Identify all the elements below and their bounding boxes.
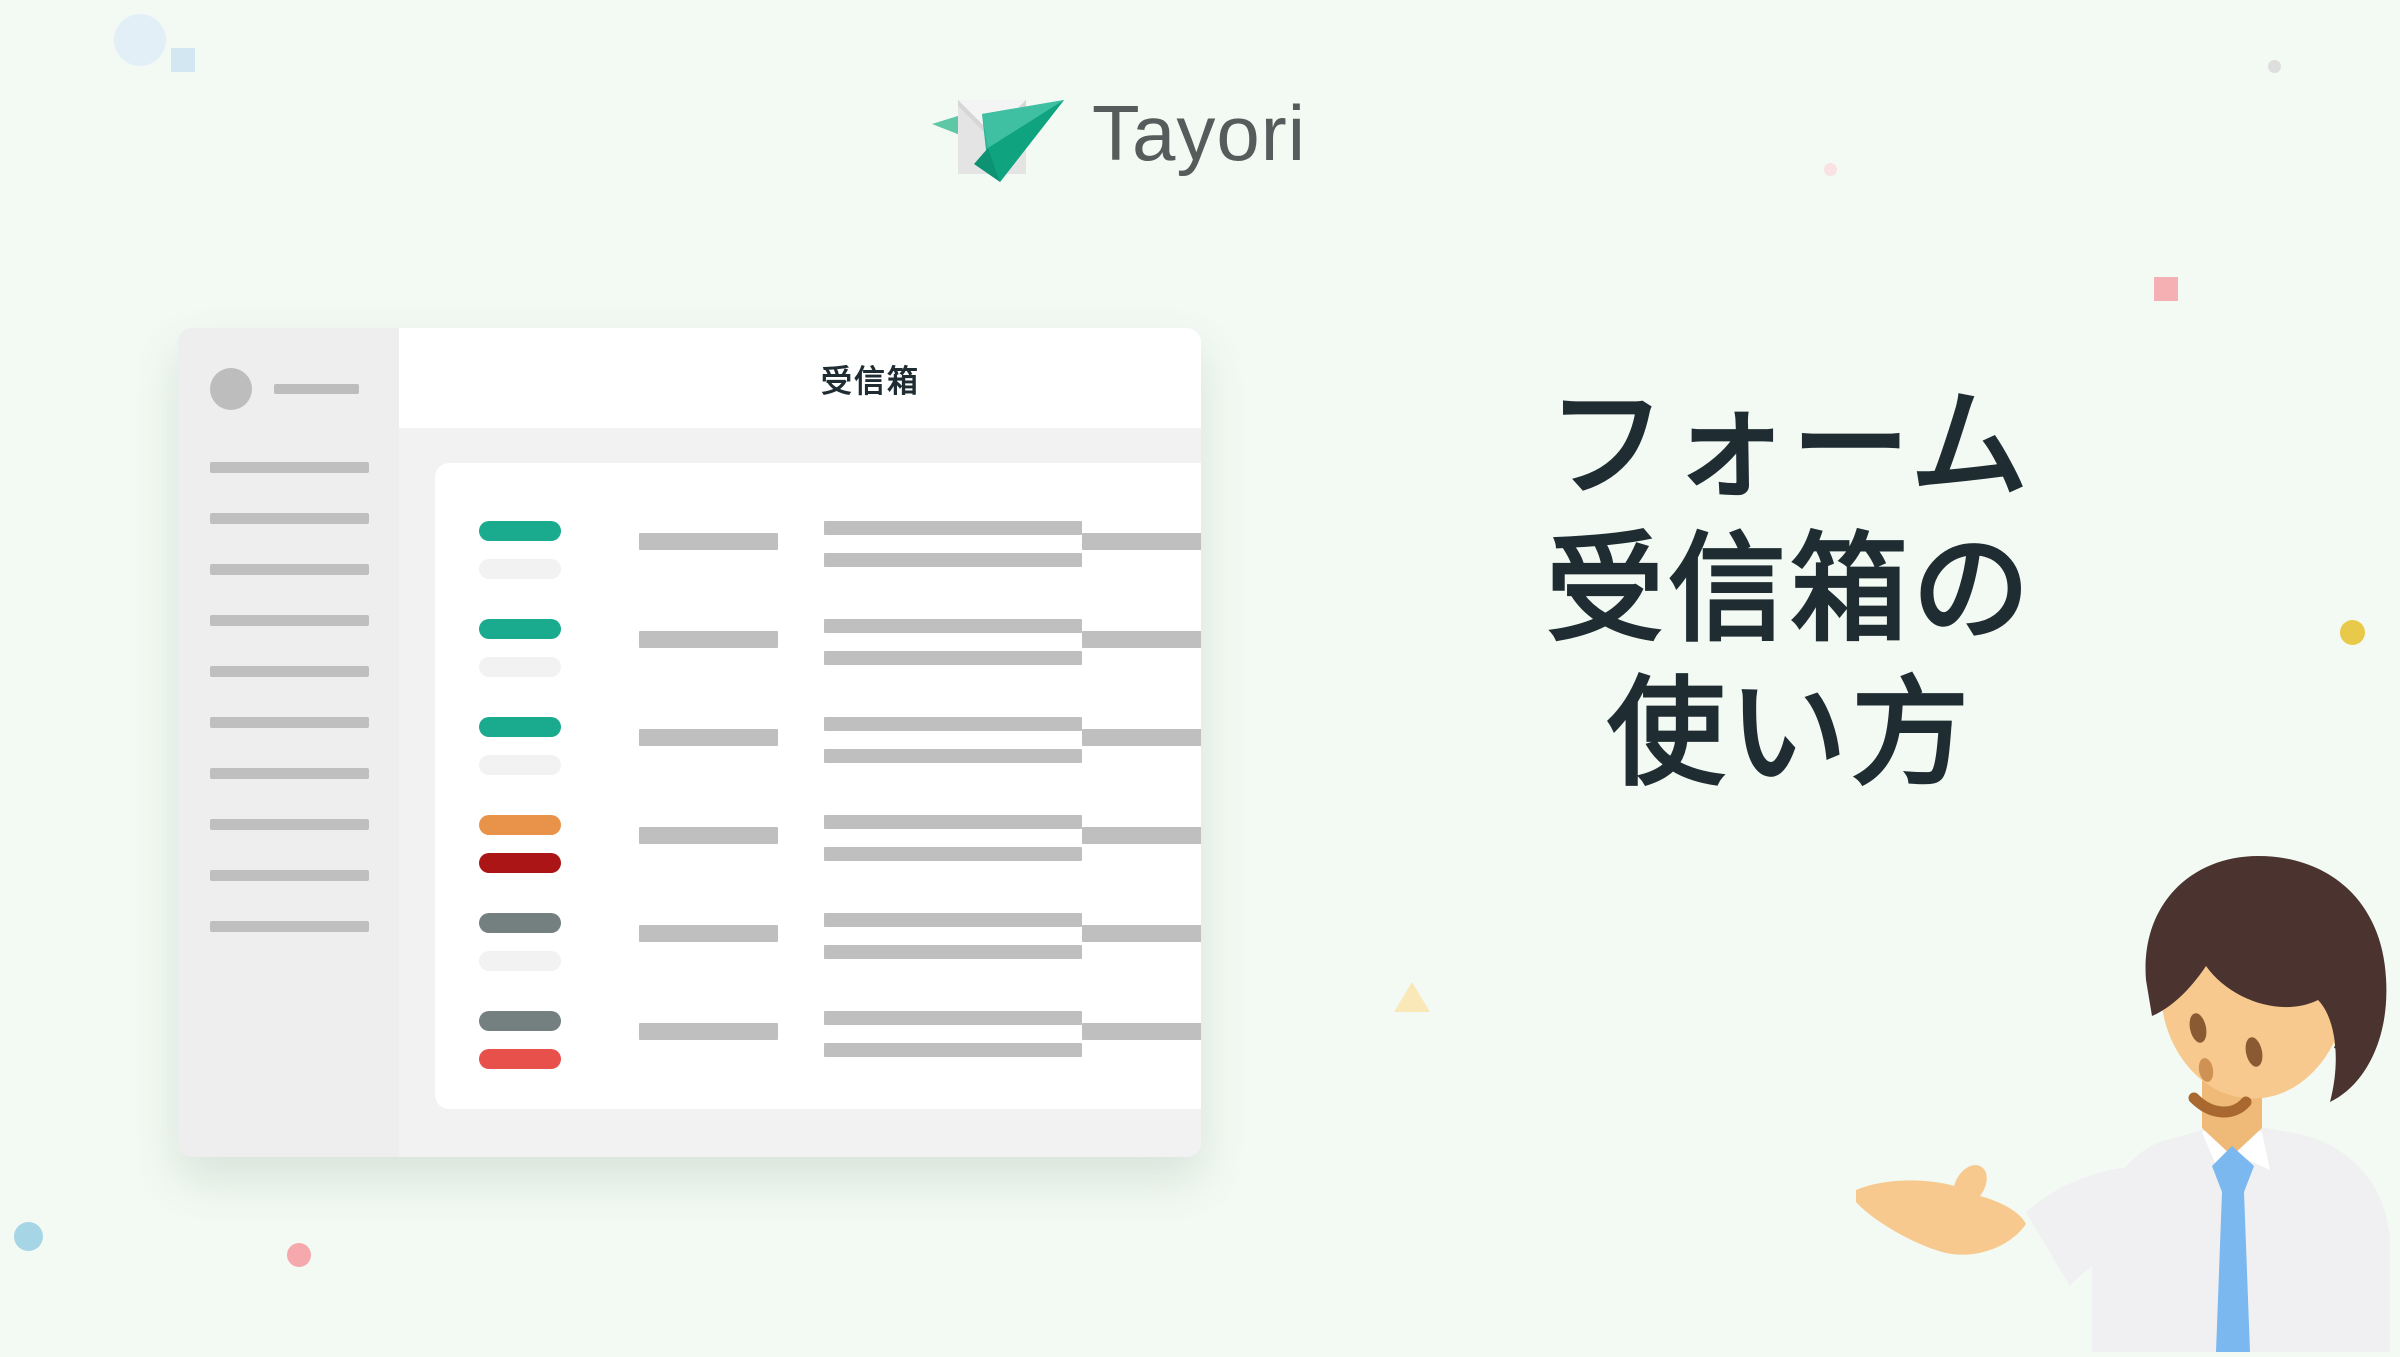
row-date: [1082, 907, 1201, 942]
table-row[interactable]: [479, 515, 1201, 613]
row-date-placeholder: [1082, 827, 1201, 844]
mockup-sidebar: [178, 328, 399, 1157]
category-badge[interactable]: [479, 755, 561, 775]
sidebar-item-10[interactable]: [210, 921, 369, 932]
row-meta: [639, 809, 824, 844]
row-date: [1082, 711, 1201, 746]
inbox-list-card: [435, 463, 1201, 1109]
row-date-placeholder: [1082, 729, 1201, 746]
sidebar-item-8[interactable]: [210, 819, 369, 830]
envelope-paperplane-icon: [930, 78, 1070, 188]
status-badge[interactable]: [479, 521, 561, 541]
heading-line-3: 使い方: [1445, 663, 2135, 807]
row-body: [824, 711, 1082, 781]
app-window-mockup: 受信箱: [178, 328, 1201, 1157]
row-date-placeholder: [1082, 925, 1201, 942]
row-meta: [639, 711, 824, 746]
row-meta-placeholder: [639, 631, 778, 648]
row-body: [824, 613, 1082, 683]
row-body-placeholder: [824, 749, 1082, 763]
row-body: [824, 809, 1082, 879]
mockup-body: [399, 428, 1201, 1157]
row-body-placeholder: [824, 717, 1082, 731]
mockup-main: 受信箱: [399, 328, 1201, 1157]
row-date: [1082, 515, 1201, 550]
status-badge[interactable]: [479, 815, 561, 835]
row-body: [824, 1005, 1082, 1075]
row-body-placeholder: [824, 913, 1082, 927]
row-body: [824, 515, 1082, 585]
category-badge[interactable]: [479, 853, 561, 873]
row-tags: [479, 515, 639, 597]
row-meta-placeholder: [639, 729, 778, 746]
row-tags: [479, 711, 639, 793]
row-body-placeholder: [824, 651, 1082, 665]
category-badge[interactable]: [479, 951, 561, 971]
row-meta-placeholder: [639, 533, 778, 550]
row-body-placeholder: [824, 521, 1082, 535]
table-row[interactable]: [479, 809, 1201, 907]
decoration-circle-3: [1824, 163, 1837, 176]
table-row[interactable]: [479, 907, 1201, 1005]
decoration-circle-6: [2340, 620, 2365, 645]
poster-canvas: Tayori 受信箱 フォーム受信箱の使い方: [0, 0, 2400, 1350]
table-row[interactable]: [479, 613, 1201, 711]
row-meta: [639, 1005, 824, 1040]
row-meta: [639, 613, 824, 648]
sidebar-item-7[interactable]: [210, 768, 369, 779]
status-badge[interactable]: [479, 1011, 561, 1031]
decoration-square-5: [2154, 277, 2178, 301]
status-badge[interactable]: [479, 717, 561, 737]
row-date: [1082, 1005, 1201, 1040]
row-date-placeholder: [1082, 533, 1201, 550]
sidebar-user-block: [178, 368, 399, 410]
sidebar-item-3[interactable]: [210, 564, 369, 575]
row-meta-placeholder: [639, 925, 778, 942]
decoration-circle-9: [287, 1243, 311, 1267]
sidebar-item-4[interactable]: [210, 615, 369, 626]
row-body-placeholder: [824, 815, 1082, 829]
heading-line-2: 受信箱の: [1445, 519, 2135, 663]
heading-line-1: フォーム: [1445, 375, 2135, 519]
sidebar-item-1[interactable]: [210, 462, 369, 473]
page-title: 受信箱: [821, 356, 920, 401]
mockup-header: 受信箱: [399, 328, 1201, 428]
sidebar-item-6[interactable]: [210, 717, 369, 728]
businessman-presenting-illustration: [1830, 840, 2400, 1352]
brand-logo: Tayori: [930, 78, 1306, 188]
row-tags: [479, 613, 639, 695]
avatar-name-placeholder: [274, 384, 359, 394]
row-body-placeholder: [824, 1043, 1082, 1057]
row-meta: [639, 515, 824, 550]
poster-heading: フォーム受信箱の使い方: [1445, 375, 2135, 807]
row-tags: [479, 809, 639, 891]
row-meta-placeholder: [639, 827, 778, 844]
row-body-placeholder: [824, 945, 1082, 959]
row-date: [1082, 613, 1201, 648]
table-row[interactable]: [479, 1005, 1201, 1103]
row-tags: [479, 1005, 639, 1087]
decoration-circle-1: [114, 14, 166, 66]
row-date-placeholder: [1082, 1023, 1201, 1040]
row-body-placeholder: [824, 619, 1082, 633]
status-badge[interactable]: [479, 619, 561, 639]
row-body: [824, 907, 1082, 977]
table-row[interactable]: [479, 711, 1201, 809]
decoration-circle-8: [14, 1222, 43, 1251]
avatar: [210, 368, 252, 410]
row-meta: [639, 907, 824, 942]
row-body-placeholder: [824, 1011, 1082, 1025]
category-badge[interactable]: [479, 1049, 561, 1069]
row-body-placeholder: [824, 553, 1082, 567]
row-body-placeholder: [824, 847, 1082, 861]
brand-name: Tayori: [1092, 94, 1306, 172]
row-meta-placeholder: [639, 1023, 778, 1040]
row-date-placeholder: [1082, 631, 1201, 648]
sidebar-nav-list: [178, 462, 399, 932]
decoration-triangle-7: [1394, 982, 1430, 1012]
category-badge[interactable]: [479, 559, 561, 579]
status-badge[interactable]: [479, 913, 561, 933]
category-badge[interactable]: [479, 657, 561, 677]
row-tags: [479, 907, 639, 989]
row-date: [1082, 809, 1201, 844]
sidebar-item-5[interactable]: [210, 666, 369, 677]
decoration-square-2: [171, 48, 195, 72]
sidebar-item-2[interactable]: [210, 513, 369, 524]
decoration-circle-4: [2268, 60, 2281, 73]
sidebar-item-9[interactable]: [210, 870, 369, 881]
